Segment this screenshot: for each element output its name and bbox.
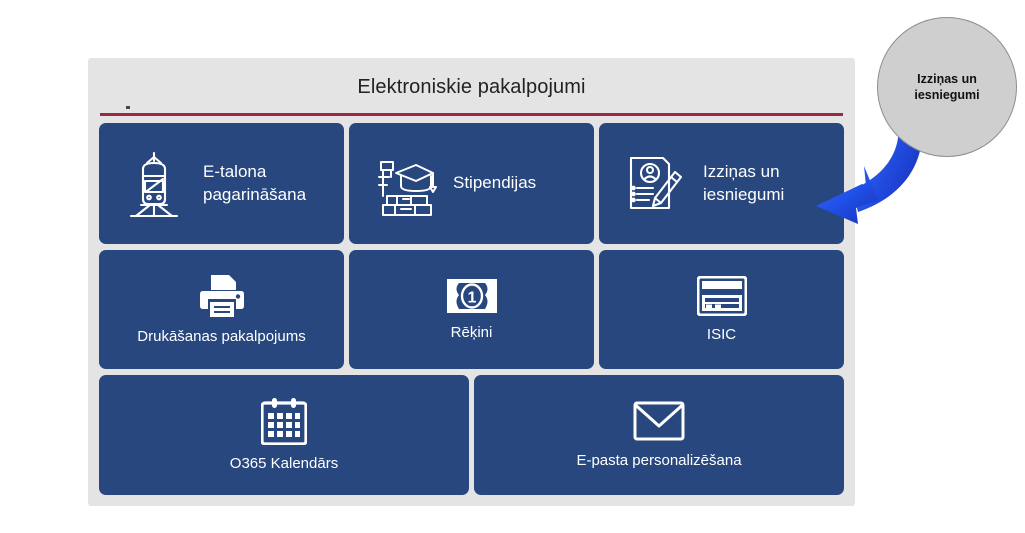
tile-label-line2: iesniegumi [703, 185, 784, 204]
tile-label-line1: E-talona [203, 162, 266, 181]
tile-label: E-talona pagarināšana [191, 161, 344, 206]
title-divider [100, 113, 843, 116]
tile-drukasanas-pakalpojums[interactable]: Drukāšanas pakalpojums [99, 250, 344, 369]
tile-label: O365 Kalendārs [230, 455, 338, 473]
calendar-icon [261, 397, 307, 445]
printer-icon [197, 274, 247, 318]
tile-label: Drukāšanas pakalpojums [137, 328, 305, 346]
tile-isic[interactable]: ISIC [599, 250, 844, 369]
tile-label: ISIC [707, 326, 736, 344]
callout-text-line2: iesniegumi [914, 88, 979, 102]
callout-text-line1: Izziņas un [917, 72, 977, 86]
banknote-icon: 1 [446, 278, 498, 314]
callout-bubble: Izziņas un iesniegumi [877, 17, 1017, 157]
tram-icon [117, 149, 191, 219]
tile-stipendijas[interactable]: Stipendijas [349, 123, 594, 244]
tile-label-line1: Izziņas un [703, 162, 780, 181]
tile-label-line2: pagarināšana [203, 185, 306, 204]
tile-e-pasta-personalizesana[interactable]: E-pasta personalizēšana [474, 375, 844, 495]
tile-label: Rēķini [451, 324, 493, 342]
callout-text: Izziņas un iesniegumi [914, 71, 979, 103]
tile-o365-kalendars[interactable]: O365 Kalendārs [99, 375, 469, 495]
title-tick-mark [126, 106, 130, 109]
tile-label: Stipendijas [441, 172, 594, 194]
envelope-icon [633, 400, 685, 442]
tile-label: E-pasta personalizēšana [576, 452, 741, 470]
services-tile-grid: E-talona pagarināšana [99, 123, 844, 495]
document-pencil-icon [617, 150, 691, 218]
page-title: Elektroniskie pakalpojumi [88, 76, 855, 99]
graduation-books-icon [367, 150, 441, 218]
svg-text:1: 1 [467, 289, 476, 306]
tile-rekini[interactable]: 1 Rēķini [349, 250, 594, 369]
tile-e-talona-pagarinasana[interactable]: E-talona pagarināšana [99, 123, 344, 244]
credit-card-icon [697, 276, 747, 316]
services-panel: Elektroniskie pakalpojumi [88, 58, 855, 506]
